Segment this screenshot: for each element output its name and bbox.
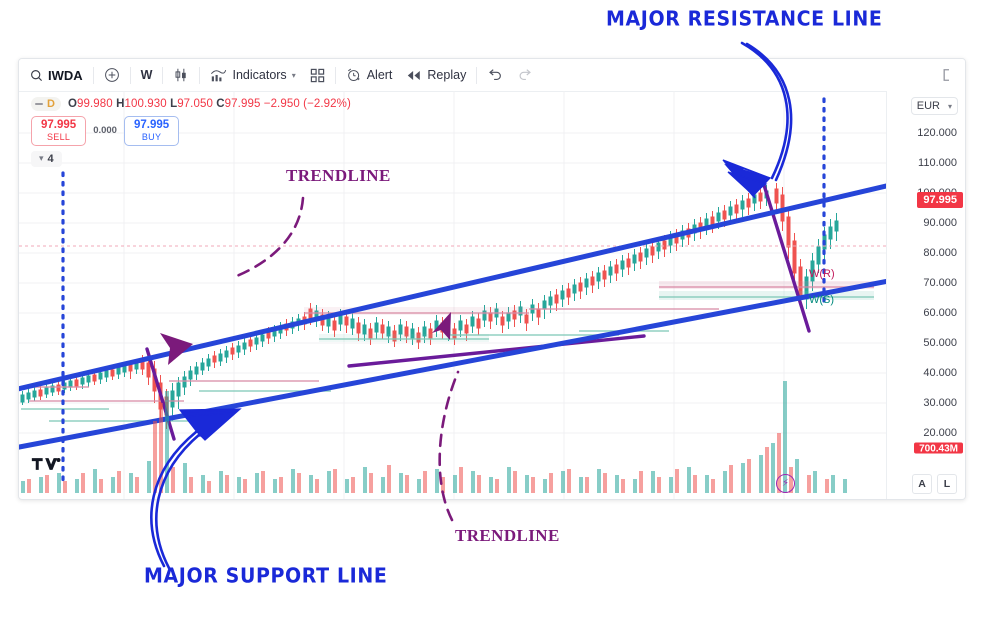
toolbar-divider [335,67,336,84]
toolbar-divider [162,67,163,84]
symbol-search[interactable]: IWDA [23,63,90,87]
volume-value-badge: 700.43M [914,443,963,454]
symbol-label: IWDA [48,68,83,83]
price-tick: 70.000 [923,277,957,289]
buy-button[interactable]: 97.995 BUY [124,116,179,146]
price-tick: 110.000 [918,157,957,169]
chevron-down-icon[interactable]: ▾ [292,71,296,80]
fullscreen-icon [942,68,956,82]
support-level-label: W(S) [809,294,834,306]
log-scale-button[interactable]: L [937,474,957,494]
alarm-clock-icon [346,67,362,83]
price-tick: 60.000 [923,307,957,319]
sell-price: 97.995 [41,119,76,132]
chevron-down-icon[interactable]: ▾ [39,153,44,164]
redo-button[interactable] [510,63,540,87]
tradingview-logo[interactable] [31,456,61,477]
toolbar-divider [130,67,131,84]
sell-label: SELL [41,132,76,142]
buy-price: 97.995 [134,119,169,132]
layouts-icon [310,68,325,83]
replay-label: Replay [427,68,466,82]
annotation-major-resistance-line: MAJOR RESISTANCE LINE [606,7,882,31]
undo-button[interactable] [480,63,510,87]
price-scale[interactable]: EUR ▾ 120.000 110.000 100.000 90.000 80.… [886,91,965,499]
undo-icon [487,68,503,82]
plus-circle-icon [104,67,120,83]
chart-canvas: W(R) W(S) [19,91,887,499]
lightning-bolt-icon[interactable]: ⚡ [776,474,795,493]
chart-plot-area[interactable]: W(R) W(S) ⚡ [19,91,887,499]
trade-buttons-row: 97.995 SELL 0.000 97.995 BUY [19,111,965,146]
annotation-major-support-line: MAJOR SUPPORT LINE [144,564,387,588]
sell-button[interactable]: 97.995 SELL [31,116,86,146]
price-tick: 40.000 [923,367,957,379]
order-quantity-selector[interactable]: ▾ 4 [31,151,62,167]
price-tick: 20.000 [923,427,957,439]
auto-scale-button[interactable]: A [912,474,932,494]
volume-series [21,381,847,493]
layouts-button[interactable] [303,63,332,87]
price-scale-buttons: A L [912,474,957,494]
rewind-icon [406,69,422,82]
candlestick-series [21,183,838,429]
last-price-badge: 97.995 [917,192,963,208]
toolbar-divider [199,67,200,84]
search-icon [30,69,43,82]
indicators-label: Indicators [232,68,286,82]
spread-value: 0.000 [93,125,117,136]
replay-button[interactable]: Replay [399,63,473,87]
chevron-down-icon[interactable]: ▾ [948,102,952,111]
chart-type-button[interactable] [166,63,196,87]
fullscreen-button[interactable] [935,63,963,87]
redo-icon [517,68,533,82]
resistance-level-label: W(R) [809,268,835,280]
candles-icon [173,67,189,83]
toolbar-divider [476,67,477,84]
buy-label: BUY [134,132,169,142]
alert-label: Alert [367,68,393,82]
toolbar-divider [93,67,94,84]
chart-toolbar: IWDA W [19,59,965,92]
tradingview-chart-widget: IWDA W [18,58,966,500]
toolbar-right-group [935,59,963,91]
annotation-trendline-bottom: TRENDLINE [455,526,560,546]
price-tick: 80.000 [923,247,957,259]
price-tick: 90.000 [923,217,957,229]
add-symbol-button[interactable] [97,63,127,87]
price-tick: 50.000 [923,337,957,349]
indicators-button[interactable]: Indicators ▾ [203,63,302,87]
price-tick: 30.000 [923,397,957,409]
indicators-icon [210,68,227,83]
alert-button[interactable]: Alert [339,63,400,87]
timeframe-button[interactable]: W [134,63,160,87]
order-quantity-value: 4 [48,153,54,165]
